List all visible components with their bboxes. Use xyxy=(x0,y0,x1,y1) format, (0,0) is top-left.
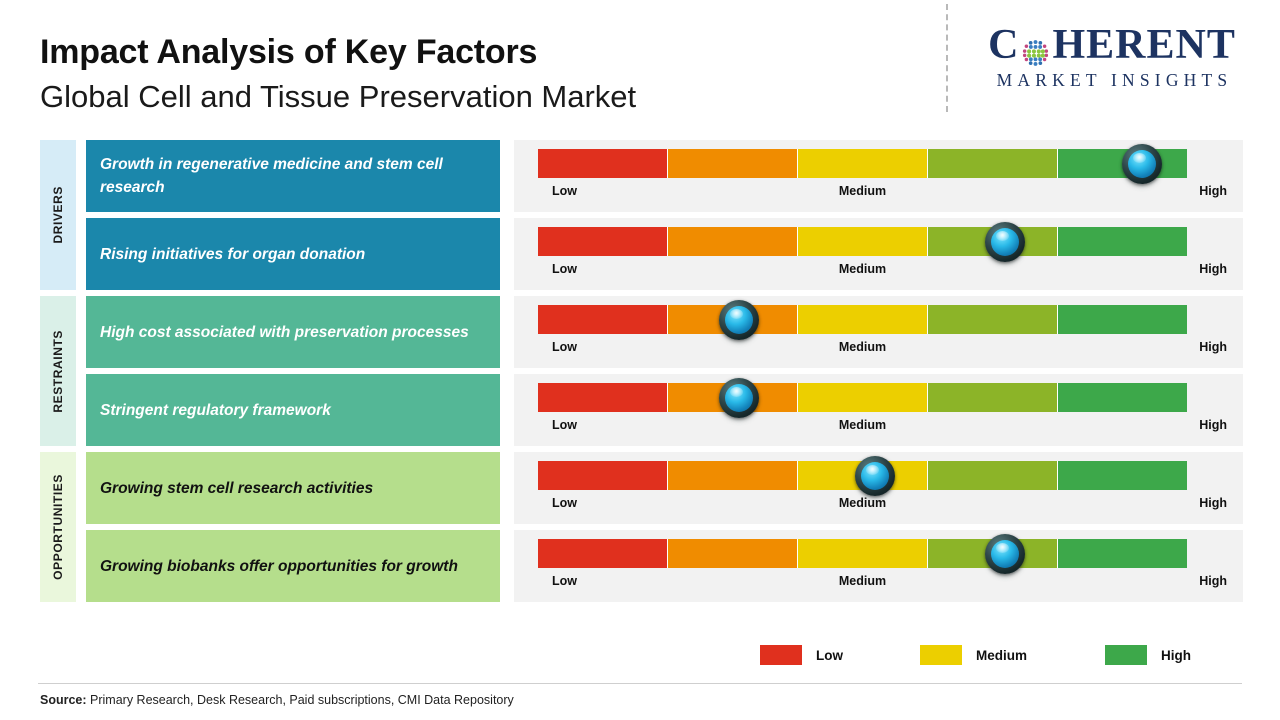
factor-box: Growth in regenerative medicine and stem… xyxy=(86,140,500,212)
gauge-panel: LowMediumHigh xyxy=(514,218,1243,290)
legend-label: High xyxy=(1161,648,1191,663)
gauge-panel: LowMediumHigh xyxy=(514,452,1243,524)
scale-segment-4 xyxy=(928,461,1058,490)
scale-segment-1 xyxy=(538,539,668,568)
scale-labels: LowMediumHigh xyxy=(538,418,1228,438)
category-group-drivers: DRIVERSGrowth in regenerative medicine a… xyxy=(0,140,1280,290)
impact-marker[interactable] xyxy=(983,532,1027,576)
legend-item-medium: Medium xyxy=(920,645,1027,665)
source-text: Primary Research, Desk Research, Paid su… xyxy=(87,693,514,707)
scale-label-high: High xyxy=(1163,340,1227,354)
category-group-opportunities: OPPORTUNITIESGrowing stem cell research … xyxy=(0,452,1280,602)
legend-swatch-medium xyxy=(920,645,962,665)
scale-label-medium: Medium xyxy=(538,262,1187,276)
legend-item-low: Low xyxy=(760,645,843,665)
scale-labels: LowMediumHigh xyxy=(538,184,1228,204)
scale-segment-4 xyxy=(928,383,1058,412)
factor-text: Growth in regenerative medicine and stem… xyxy=(100,153,500,199)
scale-label-medium: Medium xyxy=(538,418,1187,432)
source-label: Source: xyxy=(40,693,87,707)
impact-scale-bar xyxy=(538,149,1187,178)
globe-sphere-icon xyxy=(1020,32,1051,63)
scale-segment-3 xyxy=(798,149,928,178)
gauge-panel: LowMediumHigh xyxy=(514,296,1243,368)
factor-box: Growing biobanks offer opportunities for… xyxy=(86,530,500,602)
category-group-restraints: RESTRAINTSHigh cost associated with pres… xyxy=(0,296,1280,446)
gauge-panel: LowMediumHigh xyxy=(514,374,1243,446)
scale-segment-1 xyxy=(538,305,668,334)
matrix-row: Growing stem cell research activitiesLow… xyxy=(0,452,1280,524)
scale-labels: LowMediumHigh xyxy=(538,496,1228,516)
legend-swatch-high xyxy=(1105,645,1147,665)
impact-scale-bar xyxy=(538,383,1187,412)
factor-text: High cost associated with preservation p… xyxy=(100,321,469,344)
gauge-panel: LowMediumHigh xyxy=(514,530,1243,602)
scale-segment-3 xyxy=(798,227,928,256)
scale-label-high: High xyxy=(1163,496,1227,510)
scale-label-high: High xyxy=(1163,574,1227,588)
scale-label-medium: Medium xyxy=(538,340,1187,354)
marker-gloss xyxy=(1133,153,1146,163)
impact-marker[interactable] xyxy=(717,376,761,420)
scale-labels: LowMediumHigh xyxy=(538,262,1228,282)
scale-segment-1 xyxy=(538,227,668,256)
impact-scale-bar xyxy=(538,305,1187,334)
scale-segment-4 xyxy=(928,305,1058,334)
factor-box: Growing stem cell research activities xyxy=(86,452,500,524)
matrix-row: Growing biobanks offer opportunities for… xyxy=(0,530,1280,602)
factor-text: Rising initiatives for organ donation xyxy=(100,243,365,266)
scale-segment-2 xyxy=(668,227,798,256)
scale-label-medium: Medium xyxy=(538,574,1187,588)
scale-segment-2 xyxy=(668,539,798,568)
logo-letters-herent: HERENT xyxy=(1052,22,1235,68)
scale-segment-2 xyxy=(668,149,798,178)
impact-marker[interactable] xyxy=(1120,142,1164,186)
matrix-row: Rising initiatives for organ donationLow… xyxy=(0,218,1280,290)
legend: LowMediumHigh xyxy=(760,645,1220,669)
impact-scale-bar xyxy=(538,539,1187,568)
logo-letter-c: C xyxy=(988,22,1019,68)
factor-text: Growing stem cell research activities xyxy=(100,477,373,500)
impact-marker[interactable] xyxy=(717,298,761,342)
scale-segment-4 xyxy=(928,149,1058,178)
company-logo: C xyxy=(962,22,1262,91)
factor-box: Rising initiatives for organ donation xyxy=(86,218,500,290)
scale-segment-5 xyxy=(1058,383,1187,412)
scale-segment-3 xyxy=(798,305,928,334)
page-subtitle: Global Cell and Tissue Preservation Mark… xyxy=(40,76,636,118)
impact-marker[interactable] xyxy=(853,454,897,498)
scale-label-high: High xyxy=(1163,184,1227,198)
page-title: Impact Analysis of Key Factors xyxy=(40,30,636,74)
scale-label-medium: Medium xyxy=(538,184,1187,198)
scale-label-high: High xyxy=(1163,418,1227,432)
matrix-row: Stringent regulatory frameworkLowMediumH… xyxy=(0,374,1280,446)
impact-matrix: DRIVERSGrowth in regenerative medicine a… xyxy=(0,140,1280,608)
scale-segment-5 xyxy=(1058,305,1187,334)
scale-labels: LowMediumHigh xyxy=(538,574,1228,594)
gauge-panel: LowMediumHigh xyxy=(514,140,1243,212)
factor-box: High cost associated with preservation p… xyxy=(86,296,500,368)
matrix-row: High cost associated with preservation p… xyxy=(0,296,1280,368)
scale-segment-3 xyxy=(798,539,928,568)
scale-segment-5 xyxy=(1058,461,1187,490)
scale-segment-2 xyxy=(668,461,798,490)
factor-box: Stringent regulatory framework xyxy=(86,374,500,446)
legend-label: Medium xyxy=(976,648,1027,663)
scale-segment-5 xyxy=(1058,539,1187,568)
scale-segment-5 xyxy=(1058,227,1187,256)
title-block: Impact Analysis of Key Factors Global Ce… xyxy=(40,30,636,118)
scale-label-high: High xyxy=(1163,262,1227,276)
scale-labels: LowMediumHigh xyxy=(538,340,1228,360)
logo-tagline: MARKET INSIGHTS xyxy=(962,70,1262,91)
logo-wordmark: C xyxy=(962,22,1262,68)
scale-segment-1 xyxy=(538,383,668,412)
scale-segment-1 xyxy=(538,461,668,490)
scale-segment-3 xyxy=(798,383,928,412)
factor-text: Stringent regulatory framework xyxy=(100,399,331,422)
matrix-row: Growth in regenerative medicine and stem… xyxy=(0,140,1280,212)
scale-label-medium: Medium xyxy=(538,496,1187,510)
legend-item-high: High xyxy=(1105,645,1191,665)
factor-text: Growing biobanks offer opportunities for… xyxy=(100,555,458,578)
impact-scale-bar xyxy=(538,227,1187,256)
footer-divider xyxy=(38,683,1242,684)
scale-segment-1 xyxy=(538,149,668,178)
legend-label: Low xyxy=(816,648,843,663)
logo-divider xyxy=(946,4,948,112)
impact-marker[interactable] xyxy=(983,220,1027,264)
legend-swatch-low xyxy=(760,645,802,665)
page-header: Impact Analysis of Key Factors Global Ce… xyxy=(0,0,1280,132)
source-note: Source: Primary Research, Desk Research,… xyxy=(40,693,514,707)
